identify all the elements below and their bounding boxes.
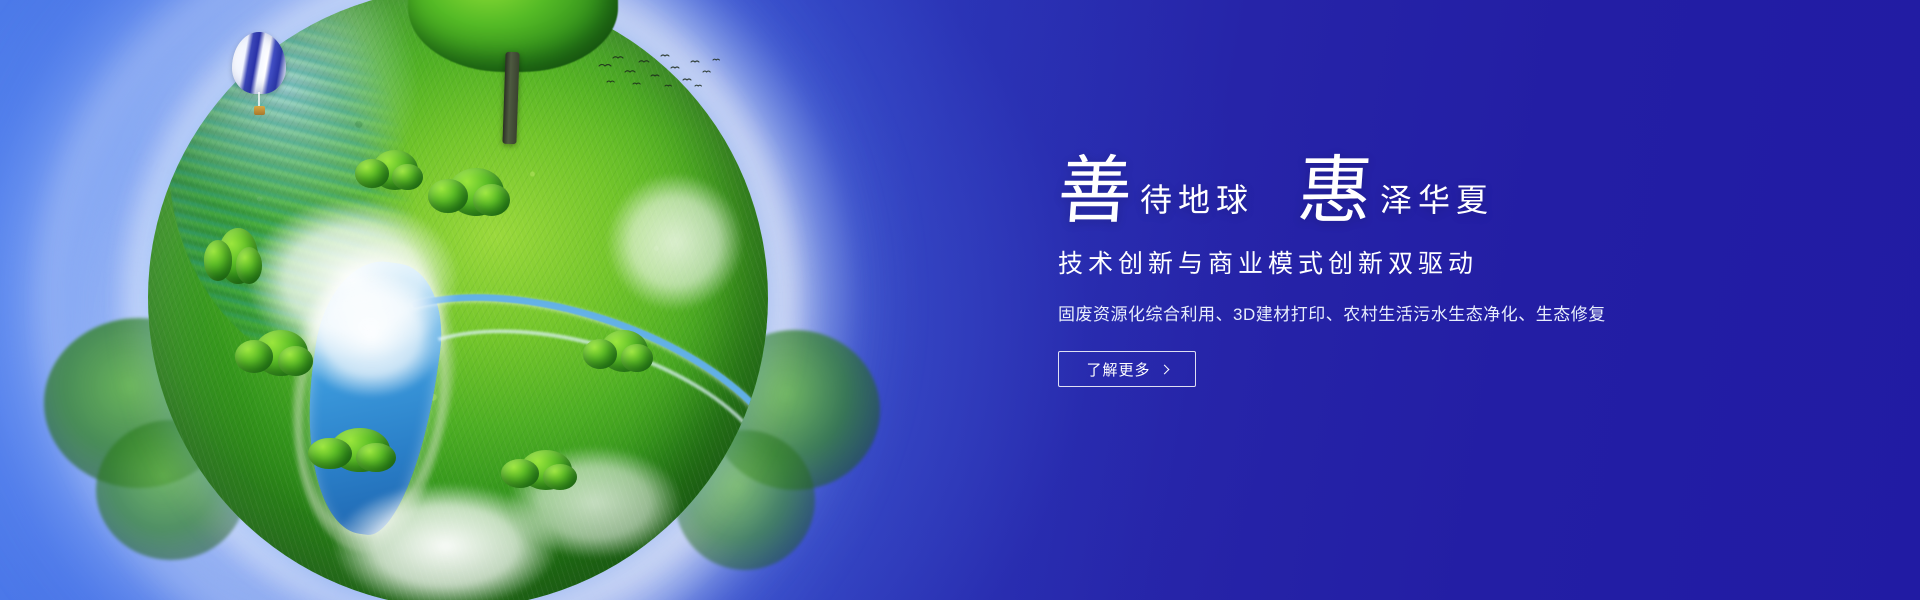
hero-banner: 善 待地球 惠 泽华夏 技术创新与商业模式创新双驱动 固废资源化综合利用、3D建… [0, 0, 1920, 600]
tree-icon [408, 0, 618, 122]
bush-icon [330, 428, 390, 472]
banner-copy: 善 待地球 惠 泽华夏 技术创新与商业模式创新双驱动 固废资源化综合利用、3D建… [1058, 140, 1598, 387]
hot-air-balloon-icon [232, 32, 286, 118]
headline-kai-text-2: 泽华夏 [1372, 184, 1494, 226]
bush-icon [218, 228, 258, 284]
headline: 善 待地球 惠 泽华夏 [1058, 140, 1598, 226]
learn-more-button[interactable]: 了解更多 [1058, 351, 1196, 387]
bush-icon [254, 330, 308, 376]
headline-brush-char-2: 惠 [1296, 156, 1375, 226]
subheadline: 技术创新与商业模式创新双驱动 [1058, 244, 1598, 280]
cloud-icon [607, 174, 743, 310]
balloon-rope [258, 92, 260, 107]
bush-icon [372, 150, 418, 190]
balloon-envelope [232, 32, 286, 94]
bush-icon [600, 330, 648, 372]
headline-brush-char-1: 善 [1056, 156, 1135, 226]
cloud-icon [297, 273, 446, 397]
balloon-basket [254, 106, 265, 115]
bird-flock-icon [595, 48, 725, 92]
description-text: 固废资源化综合利用、3D建材打印、农村生活污水生态净化、生态修复 [1058, 300, 1598, 325]
headline-kai-text-1: 待地球 [1132, 184, 1254, 226]
bush-icon [448, 168, 504, 216]
chevron-right-icon [1159, 364, 1169, 374]
bush-icon [520, 450, 572, 490]
learn-more-label: 了解更多 [1086, 359, 1150, 380]
